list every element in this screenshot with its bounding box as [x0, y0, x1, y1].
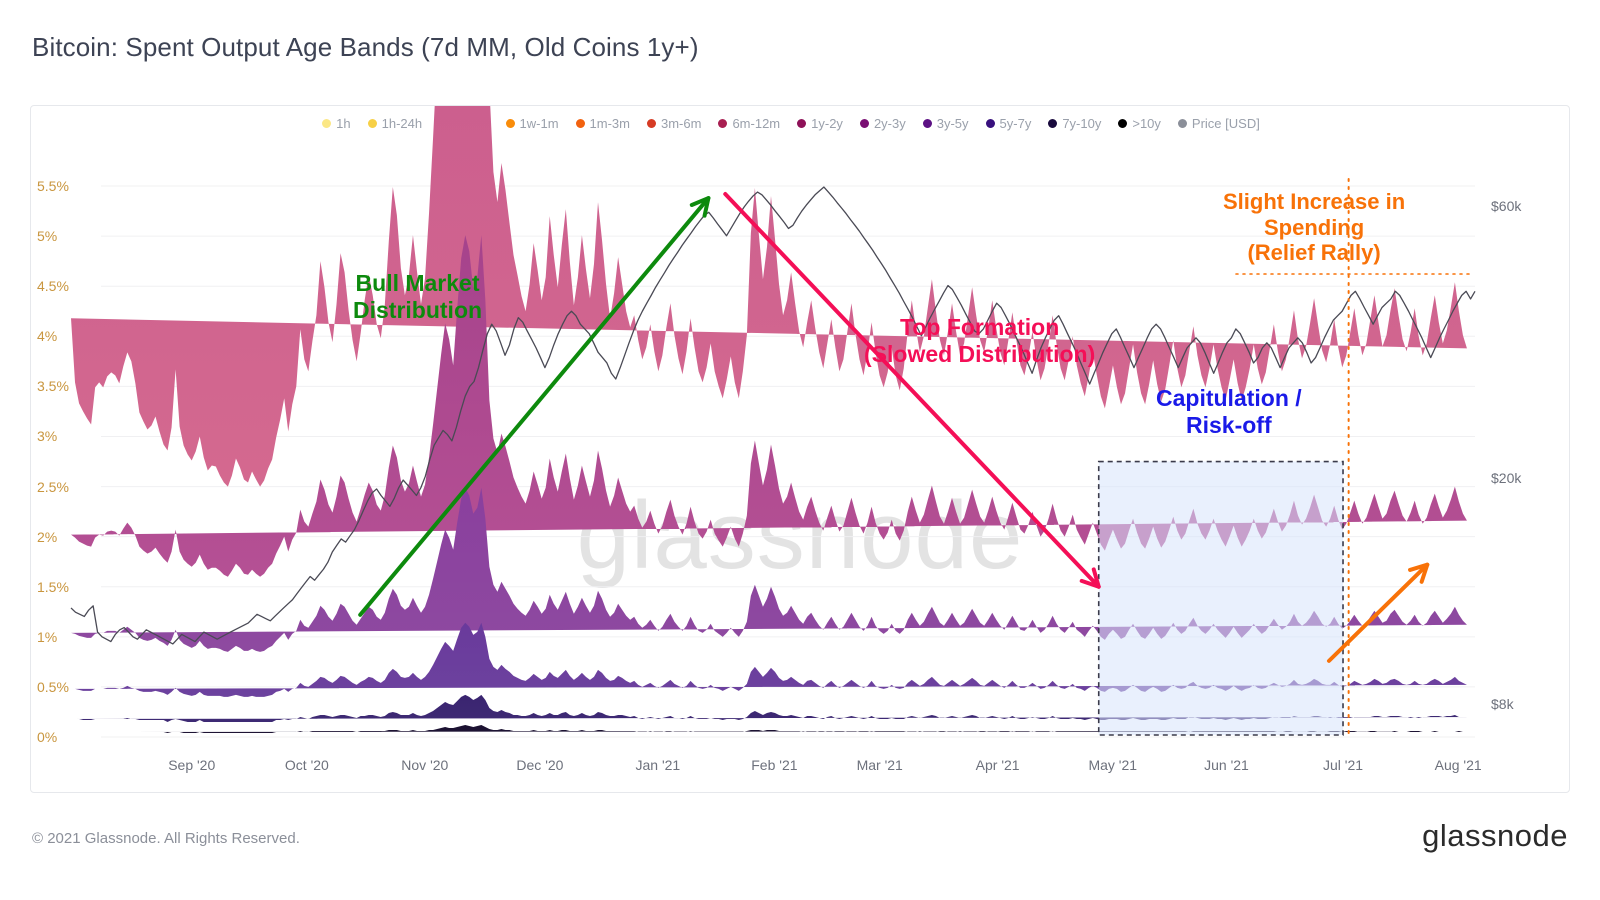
- x-axis-tick-label: Jun '21: [1204, 757, 1249, 773]
- y-axis-tick-label: 0%: [37, 729, 57, 745]
- y-axis-tick-label: 4.5%: [37, 278, 69, 294]
- y-axis-tick-label: 5.5%: [37, 178, 69, 194]
- y-axis-tick-label: 1%: [37, 629, 57, 645]
- glassnode-logo: glassnode: [1422, 818, 1568, 854]
- top-formation-arrow: [725, 194, 1098, 587]
- plot-area: glassnode 0%0.5%1%1.5%2%2.5%3%3.5%4%4.5%…: [31, 106, 1569, 792]
- y-axis-tick-label: 5%: [37, 228, 57, 244]
- x-axis-tick-label: Mar '21: [857, 757, 903, 773]
- y-axis-tick-label: 2.5%: [37, 479, 69, 495]
- y-axis-tick-label: 1.5%: [37, 579, 69, 595]
- y2-axis-tick-label: $20k: [1491, 470, 1521, 486]
- x-axis-tick-label: Jul '21: [1323, 757, 1363, 773]
- x-axis-tick-label: Apr '21: [976, 757, 1020, 773]
- y2-axis-tick-label: $60k: [1491, 198, 1521, 214]
- x-axis-tick-label: May '21: [1088, 757, 1137, 773]
- x-axis-tick-label: Sep '20: [168, 757, 215, 773]
- x-axis-tick-label: Jan '21: [636, 757, 681, 773]
- x-axis-tick-label: Feb '21: [751, 757, 797, 773]
- overlay-shapes: [360, 179, 1471, 737]
- capitulation-box: [1099, 462, 1343, 735]
- y-axis-tick-label: 3%: [37, 428, 57, 444]
- copyright-notice: © 2021 Glassnode. All Rights Reserved.: [32, 830, 300, 847]
- top-formation-arrow-shaft: [725, 194, 1098, 587]
- y-axis-tick-label: 4%: [37, 328, 57, 344]
- x-axis-tick-label: Dec '20: [516, 757, 563, 773]
- page-title: Bitcoin: Spent Output Age Bands (7d MM, …: [32, 32, 699, 63]
- x-axis-tick-label: Oct '20: [285, 757, 329, 773]
- x-axis-tick-label: Nov '20: [401, 757, 448, 773]
- chart-svg: [31, 106, 1569, 792]
- y-axis-tick-label: 0.5%: [37, 679, 69, 695]
- x-axis-tick-label: Aug '21: [1435, 757, 1482, 773]
- chart-page: Bitcoin: Spent Output Age Bands (7d MM, …: [0, 0, 1600, 900]
- area-band-1y-2y: [71, 106, 1467, 487]
- y-axis-tick-label: 2%: [37, 529, 57, 545]
- y2-axis-tick-label: $8k: [1491, 696, 1514, 712]
- chart-card: 1h1h-24h1d-1w1w-1m1m-3m3m-6m6m-12m1y-2y2…: [30, 105, 1570, 793]
- y-axis-tick-label: 3.5%: [37, 378, 69, 394]
